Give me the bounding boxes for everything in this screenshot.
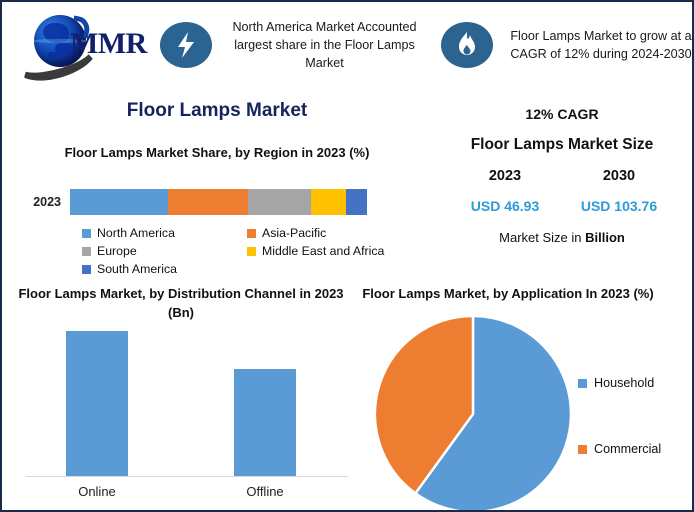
bar-segment-asia-pacific xyxy=(168,189,248,215)
column-bar-offline xyxy=(234,369,296,477)
market-size-value-base: USD 46.93 xyxy=(448,198,562,214)
lightning-bolt-icon xyxy=(160,22,212,68)
bar-segment-middle-east-africa xyxy=(311,189,347,215)
region-share-chart-title: Floor Lamps Market Share, by Region in 2… xyxy=(12,144,422,163)
legend-label: Europe xyxy=(97,244,137,258)
market-size-panel: 12% CAGR Floor Lamps Market Size 2023 20… xyxy=(434,98,690,245)
legend-label: Asia-Pacific xyxy=(262,226,326,240)
column-label-online: Online xyxy=(47,484,147,499)
legend-swatch-icon xyxy=(247,229,256,238)
bar-segment-europe xyxy=(248,189,310,215)
market-size-footnote-unit: Billion xyxy=(585,230,625,245)
column-bar-online xyxy=(66,331,128,477)
legend-swatch-icon xyxy=(82,247,91,256)
mmr-globe-logo: MMR xyxy=(10,9,160,81)
market-size-year-forecast: 2030 xyxy=(562,168,676,184)
legend-item-commercial: Commercial xyxy=(578,441,690,457)
region-share-stacked-bar xyxy=(70,189,367,215)
legend-label: Middle East and Africa xyxy=(262,244,384,258)
legend-label: Commercial xyxy=(594,442,661,456)
market-size-values: USD 46.93 USD 103.76 xyxy=(434,198,690,214)
market-size-title: Floor Lamps Market Size xyxy=(434,136,690,154)
region-share-chart: 2023 xyxy=(18,188,418,216)
legend-swatch-icon xyxy=(247,247,256,256)
market-size-year-base: 2023 xyxy=(448,168,562,184)
infographic-canvas: MMR North America Market Accounted large… xyxy=(0,0,694,512)
bar-segment-south-america xyxy=(346,189,367,215)
market-size-footnote: Market Size in Billion xyxy=(434,230,690,245)
bar-segment-north-america xyxy=(70,189,168,215)
column-chart-axis-line xyxy=(26,476,348,477)
flame-icon xyxy=(441,22,493,68)
market-size-value-forecast: USD 103.76 xyxy=(562,198,676,214)
legend-label: North America xyxy=(97,226,175,240)
header-highlight-1-text: North America Market Accounted largest s… xyxy=(222,18,427,73)
legend-item-household: Household xyxy=(578,375,690,391)
legend-item-asia-pacific: Asia-Pacific xyxy=(247,224,412,242)
region-share-legend: North America Asia-Pacific Europe Middle… xyxy=(82,224,412,278)
market-size-footnote-prefix: Market Size in xyxy=(499,230,585,245)
region-share-category-label: 2023 xyxy=(18,195,70,209)
legend-swatch-icon xyxy=(578,445,587,454)
column-label-offline: Offline xyxy=(215,484,315,499)
header-highlight-2-text: Floor Lamps Market to grow at a CAGR of … xyxy=(501,27,694,64)
legend-swatch-icon xyxy=(578,379,587,388)
application-share-legend: Household Commercial xyxy=(578,375,690,457)
market-size-years: 2023 2030 xyxy=(434,168,690,184)
distribution-channel-chart-title: Floor Lamps Market, by Distribution Chan… xyxy=(16,285,346,323)
legend-label: South America xyxy=(97,262,177,276)
legend-item-middle-east-africa: Middle East and Africa xyxy=(247,242,412,260)
legend-label: Household xyxy=(594,376,654,390)
legend-item-europe: Europe xyxy=(82,242,247,260)
application-share-chart-title: Floor Lamps Market, by Application In 20… xyxy=(358,285,658,304)
legend-item-north-america: North America xyxy=(82,224,247,242)
distribution-channel-chart xyxy=(26,322,346,477)
column-chart-category-labels: Online Offline xyxy=(26,484,346,504)
page-title: Floor Lamps Market xyxy=(2,100,432,122)
logo-wordmark: MMR xyxy=(70,27,147,61)
legend-item-south-america: South America xyxy=(82,260,247,278)
header-bar: MMR North America Market Accounted large… xyxy=(2,2,692,88)
legend-swatch-icon xyxy=(82,265,91,274)
application-share-chart xyxy=(373,315,573,512)
legend-swatch-icon xyxy=(82,229,91,238)
cagr-value: 12% CAGR xyxy=(434,106,690,122)
